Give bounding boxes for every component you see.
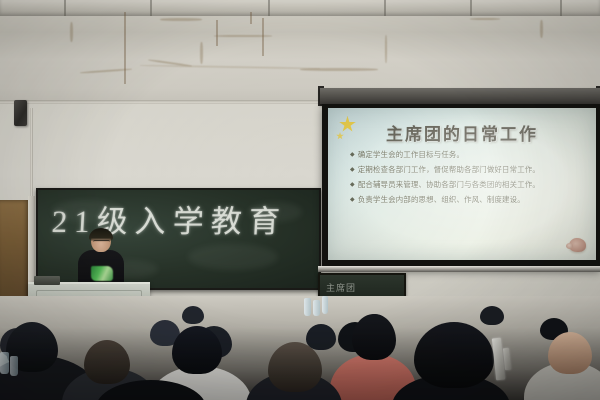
list-item: ◆ 负责学生会内部的思想、组织、作风、制度建设。 bbox=[350, 195, 586, 205]
list-item: ◆ 配合辅导员来管理、协助各部门与各类团的相关工作。 bbox=[350, 180, 586, 190]
audience-head bbox=[352, 314, 396, 360]
water-bottle bbox=[313, 300, 320, 316]
screen-bottom-bar bbox=[318, 266, 600, 272]
laptop bbox=[34, 276, 60, 285]
audience-head bbox=[172, 326, 222, 374]
projector-screen-housing bbox=[320, 88, 600, 104]
list-item: ◆ 定期检查各部门工作，督促帮助各部门做好日常工作。 bbox=[350, 165, 586, 175]
list-item: ◆ 确定学生会的工作目标与任务。 bbox=[350, 150, 586, 160]
glasses-icon bbox=[93, 240, 110, 245]
audience-head bbox=[84, 340, 130, 384]
water-bottle bbox=[304, 298, 311, 316]
slide-bullet-list: ◆ 确定学生会的工作目标与任务。 ◆ 定期检查各部门工作，督促帮助各部门做好日常… bbox=[350, 150, 586, 210]
projected-slide: 主席团的日常工作 ◆ 确定学生会的工作目标与任务。 ◆ 定期检查各部门工作，督促… bbox=[328, 108, 596, 260]
bullet-marker-icon: ◆ bbox=[350, 150, 355, 160]
shirt-graphic bbox=[91, 266, 113, 281]
bullet-marker-icon: ◆ bbox=[350, 165, 355, 175]
slide-title: 主席团的日常工作 bbox=[328, 120, 596, 145]
audience-head bbox=[182, 306, 204, 324]
audience-head bbox=[306, 324, 336, 350]
audience-head bbox=[480, 306, 504, 325]
doorway bbox=[0, 200, 30, 304]
ceiling-beam bbox=[0, 0, 600, 16]
wall-speaker-icon bbox=[14, 100, 27, 126]
audience-head bbox=[268, 342, 322, 392]
bullet-text: 负责学生会内部的思想、组织、作风、制度建设。 bbox=[358, 195, 586, 205]
presenter bbox=[78, 230, 124, 288]
bullet-marker-icon: ◆ bbox=[350, 195, 355, 205]
bullet-text: 配合辅导员来管理、协助各部门与各类团的相关工作。 bbox=[358, 180, 586, 190]
bullet-text: 确定学生会的工作目标与任务。 bbox=[358, 150, 586, 160]
water-bottle bbox=[10, 356, 18, 376]
side-blackboard-chalk-text: 主席团 bbox=[326, 281, 356, 294]
bullet-marker-icon: ◆ bbox=[350, 180, 355, 190]
audience bbox=[0, 296, 600, 400]
water-bottle bbox=[0, 352, 9, 374]
audience-head bbox=[548, 332, 592, 374]
bullet-text: 定期检查各部门工作，督促帮助各部门做好日常工作。 bbox=[358, 165, 586, 175]
water-bottle bbox=[322, 296, 328, 314]
lecture-hall-photo: 21级入学教育 主席团的日常工作 ◆ 确定学生会的工作目标与任务。 ◆ 定期检查… bbox=[0, 0, 600, 400]
animal-clipart-icon bbox=[569, 238, 586, 252]
